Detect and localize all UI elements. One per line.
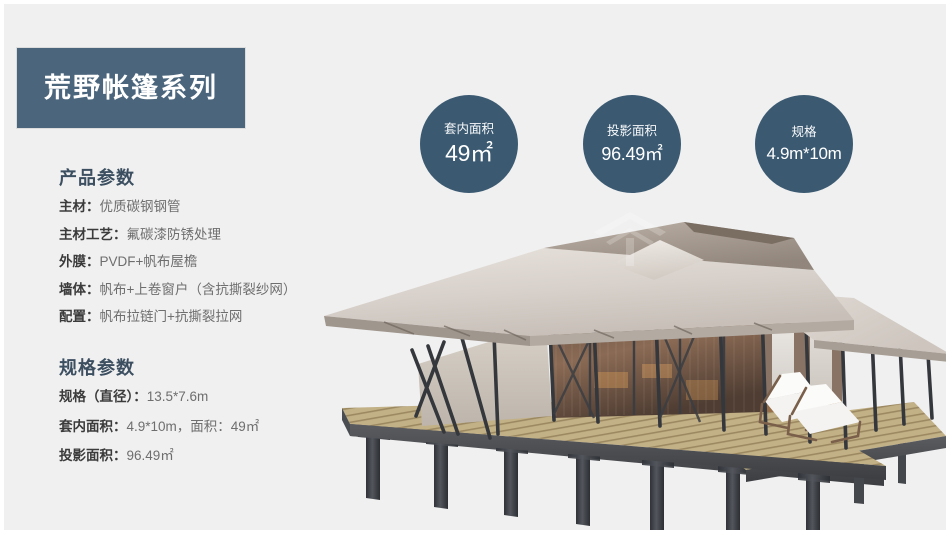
product-spec-page: 荒野帐篷系列 产品参数 主材：优质碳钢钢管 主材工艺：氟碳漆防锈处理 外膜：PV… (0, 0, 950, 534)
param-row: 配置：帆布拉链门+抗撕裂拉网 (59, 310, 296, 324)
param-label: 外膜： (59, 254, 100, 269)
param-value: 4.9*10m，面积：49㎡ (127, 419, 260, 434)
param-value: 氟碳漆防锈处理 (127, 227, 222, 242)
param-row: 规格（直径）：13.5*7.6m (59, 390, 259, 404)
param-label: 墙体： (59, 282, 100, 297)
param-row: 投影面积：96.49㎡ (59, 449, 259, 463)
param-label: 主材： (59, 199, 100, 214)
param-label: 套内面积： (59, 419, 127, 434)
param-value: 优质碳钢钢管 (100, 199, 181, 214)
stat-badge-dimensions: 规格 4.9m*10m (755, 95, 853, 193)
page-title: 荒野帐篷系列 (44, 75, 218, 102)
param-row: 套内面积：4.9*10m，面积：49㎡ (59, 420, 259, 434)
product-parameters-block: 产品参数 主材：优质碳钢钢管 主材工艺：氟碳漆防锈处理 外膜：PVDF+帆布屋檐… (59, 169, 296, 338)
param-row: 主材：优质碳钢钢管 (59, 200, 296, 214)
param-value: 96.49㎡ (127, 448, 174, 463)
stat-label: 套内面积 (444, 123, 494, 136)
param-value: 13.5*7.6m (147, 389, 209, 404)
stat-label: 规格 (791, 126, 816, 139)
stat-value: 49㎡ (445, 142, 493, 165)
stat-value: 4.9m*10m (766, 145, 841, 162)
stat-badge-projected-area: 投影面积 96.49㎡ (583, 95, 681, 193)
param-value: PVDF+帆布屋檐 (100, 254, 198, 269)
param-label: 规格（直径）： (59, 389, 147, 404)
stat-value: 96.49㎡ (601, 145, 662, 163)
param-row: 主材工艺：氟碳漆防锈处理 (59, 228, 296, 242)
stat-badge-interior-area: 套内面积 49㎡ (420, 95, 518, 193)
specification-parameters-block: 规格参数 规格（直径）：13.5*7.6m 套内面积：4.9*10m，面积：49… (59, 359, 259, 479)
param-label: 配置： (59, 309, 100, 324)
stat-label: 投影面积 (607, 125, 657, 138)
param-row: 外膜：PVDF+帆布屋檐 (59, 255, 296, 269)
tent-render-image (294, 204, 950, 534)
param-value: 帆布拉链门+抗撕裂拉网 (100, 309, 243, 324)
param-label: 投影面积： (59, 448, 127, 463)
product-parameters-heading: 产品参数 (59, 169, 296, 187)
param-label: 主材工艺： (59, 227, 127, 242)
specification-parameters-heading: 规格参数 (59, 359, 259, 377)
param-row: 墙体：帆布+上卷窗户（含抗撕裂纱网） (59, 283, 296, 297)
param-value: 帆布+上卷窗户（含抗撕裂纱网） (100, 282, 297, 297)
title-banner: 荒野帐篷系列 (16, 47, 246, 129)
